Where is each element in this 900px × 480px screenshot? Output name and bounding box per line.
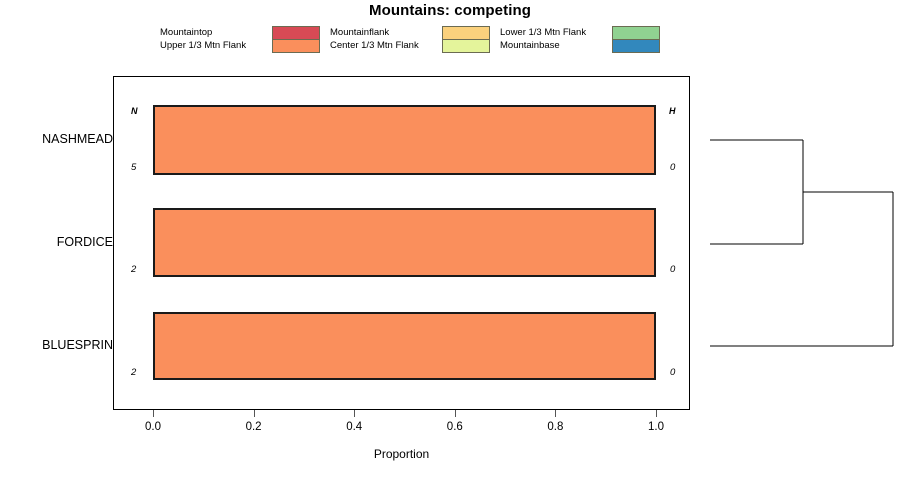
n-value: 5: [131, 162, 136, 173]
legend-labels-3: Lower 1/3 Mtn Flank Mountainbase: [500, 26, 608, 54]
x-axis-tick-label: 0.2: [234, 421, 274, 433]
x-axis-tick: [455, 410, 456, 417]
x-axis-tick-label: 1.0: [636, 421, 676, 433]
h-value: 0: [670, 162, 675, 173]
legend-swatches-1: [272, 26, 320, 53]
legend-item-label-mountainflank: Mountainflank: [330, 26, 438, 39]
legend-swatches-2: [442, 26, 490, 53]
h-value: 0: [670, 367, 675, 378]
legend-labels-2: Mountainflank Center 1/3 Mtn Flank: [330, 26, 438, 54]
bar-segment: [153, 312, 656, 380]
x-axis-tick: [656, 410, 657, 417]
bar-segment: [153, 105, 656, 175]
legend-item-label-upper-third: Upper 1/3 Mtn Flank: [160, 39, 268, 52]
dendrogram: [690, 76, 900, 410]
n-column-header: N: [131, 106, 138, 116]
n-value: 2: [131, 264, 136, 275]
legend-item-label-lower-third: Lower 1/3 Mtn Flank: [500, 26, 608, 39]
legend-swatch-mountainbase: [613, 40, 659, 52]
row-label: FORDICE: [10, 235, 113, 249]
legend-swatch-mountaintop: [273, 27, 319, 40]
legend-swatches-3: [612, 26, 660, 53]
legend-swatch-lower-third: [613, 27, 659, 40]
row-label: NASHMEAD: [10, 132, 113, 146]
legend-item-label-mountaintop: Mountaintop: [160, 26, 268, 39]
h-column-header: H: [669, 106, 676, 116]
x-axis-tick: [254, 410, 255, 417]
x-axis-tick: [555, 410, 556, 417]
x-axis-tick-label: 0.6: [435, 421, 475, 433]
legend-item-label-center-third: Center 1/3 Mtn Flank: [330, 39, 438, 52]
h-value: 0: [670, 264, 675, 275]
dendrogram-svg: [690, 76, 900, 410]
row-label: BLUESPRIN: [10, 338, 113, 352]
chart-title: Mountains: competing: [0, 2, 900, 19]
x-axis-title: Proportion: [0, 447, 803, 461]
legend-swatch-center-third: [443, 40, 489, 52]
x-axis-tick: [354, 410, 355, 417]
chart-canvas: Mountains: competing Mountaintop Upper 1…: [0, 0, 900, 480]
legend-swatch-mountainflank: [443, 27, 489, 40]
x-axis-tick-label: 0.0: [133, 421, 173, 433]
x-axis-tick-label: 0.8: [535, 421, 575, 433]
bar-segment: [153, 208, 656, 277]
legend-swatch-upper-third: [273, 40, 319, 52]
x-axis-tick: [153, 410, 154, 417]
x-axis-tick-label: 0.4: [334, 421, 374, 433]
n-value: 2: [131, 367, 136, 378]
legend-item-label-mountainbase: Mountainbase: [500, 39, 608, 52]
legend: Mountaintop Upper 1/3 Mtn Flank Mountain…: [160, 26, 720, 54]
legend-labels-1: Mountaintop Upper 1/3 Mtn Flank: [160, 26, 268, 54]
